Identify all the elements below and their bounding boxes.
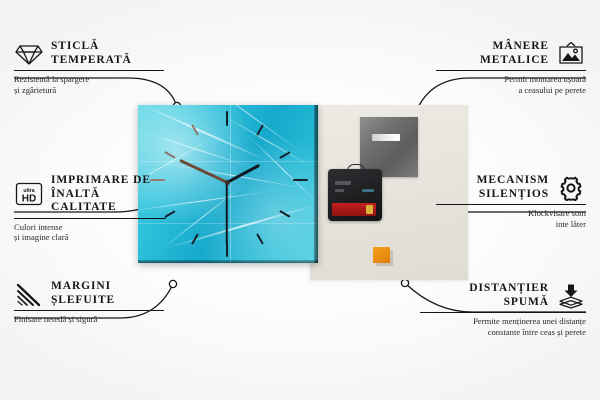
hanger-slot — [372, 134, 400, 141]
foam-spacer-piece — [373, 247, 390, 263]
callout-silent-mechanism: MECANISM SILENȚIOS Klockvisare som inte … — [436, 174, 586, 229]
callout-subtitle: Permite menținerea unei distanțe constan… — [420, 316, 586, 337]
callout-header: DISTANȚIER SPUMĂ — [420, 282, 586, 309]
clock-tick — [293, 179, 308, 181]
svg-text:HD: HD — [22, 194, 36, 205]
callout-header: MARGINI ȘLEFUITE — [14, 280, 164, 307]
leader-dot-polished-edges — [169, 280, 176, 287]
callout-metal-hangers: MÂNERE METALICE Permit montarea ușoară a… — [436, 40, 586, 95]
callout-rule — [14, 218, 166, 219]
callout-subtitle: Rezistentă la spargere și zgârietură — [14, 74, 164, 95]
mechanism-detail — [335, 181, 351, 185]
callout-hd-print: ultra HD IMPRIMARE DE ÎNALTĂ CALITATE Cu… — [14, 174, 166, 243]
callout-rule — [420, 312, 586, 313]
battery-terminal — [366, 205, 373, 214]
glass-bottom-edge — [138, 260, 318, 263]
product-image — [138, 105, 468, 280]
callout-title: MECANISM SILENȚIOS — [477, 174, 549, 201]
callout-title: IMPRIMARE DE ÎNALTĂ CALITATE — [51, 174, 166, 215]
foam-spacer-icon — [556, 283, 586, 309]
diamond-icon — [14, 41, 44, 67]
clock-tick — [226, 111, 228, 126]
ultra-hd-badge-icon: ultra HD — [14, 181, 44, 207]
callout-header: MECANISM SILENȚIOS — [436, 174, 586, 201]
callout-polished-edges: MARGINI ȘLEFUITE Finisare netedă și sigu… — [14, 280, 164, 325]
mechanism-battery — [332, 203, 376, 216]
gear-icon — [556, 175, 586, 201]
callout-subtitle: Finisare netedă și sigură — [14, 314, 164, 325]
leader-dot-foam-spacer — [401, 279, 408, 286]
polished-edge-icon — [14, 281, 44, 307]
callout-rule — [14, 310, 164, 311]
clock-center-hub — [225, 180, 230, 185]
callout-header: ultra HD IMPRIMARE DE ÎNALTĂ CALITATE — [14, 174, 166, 215]
callout-title: STICLĂ TEMPERATĂ — [51, 40, 132, 67]
callout-rule — [14, 70, 164, 71]
callout-title: MARGINI ȘLEFUITE — [51, 280, 115, 307]
picture-hanger-icon — [556, 41, 586, 67]
infographic-canvas: STICLĂ TEMPERATĂ Rezistentă la spargere … — [0, 0, 600, 400]
callout-subtitle: Klockvisare som inte låter — [436, 208, 586, 229]
callout-subtitle: Culori intense și imagine clară — [14, 222, 166, 243]
callout-header: STICLĂ TEMPERATĂ — [14, 40, 164, 67]
callout-foam-spacer: DISTANȚIER SPUMĂ Permite menținerea unei… — [420, 282, 586, 337]
clock-mechanism — [328, 169, 382, 221]
callout-tempered-glass: STICLĂ TEMPERATĂ Rezistentă la spargere … — [14, 40, 164, 95]
callout-rule — [436, 204, 586, 205]
mechanism-detail — [362, 189, 374, 192]
callout-rule — [436, 70, 586, 71]
glass-pane-divider — [230, 105, 231, 263]
mechanism-shaft — [347, 164, 365, 172]
callout-title: DISTANȚIER SPUMĂ — [469, 282, 549, 309]
callout-title: MÂNERE METALICE — [480, 40, 549, 67]
glass-right-edge — [314, 105, 318, 263]
metal-hanger-plate — [360, 117, 418, 177]
callout-header: MÂNERE METALICE — [436, 40, 586, 67]
glass-pane-divider — [138, 161, 318, 162]
callout-subtitle: Permit montarea ușoară a ceasului pe per… — [436, 74, 586, 95]
clock-second-hand — [226, 183, 228, 245]
mechanism-detail — [335, 189, 344, 192]
